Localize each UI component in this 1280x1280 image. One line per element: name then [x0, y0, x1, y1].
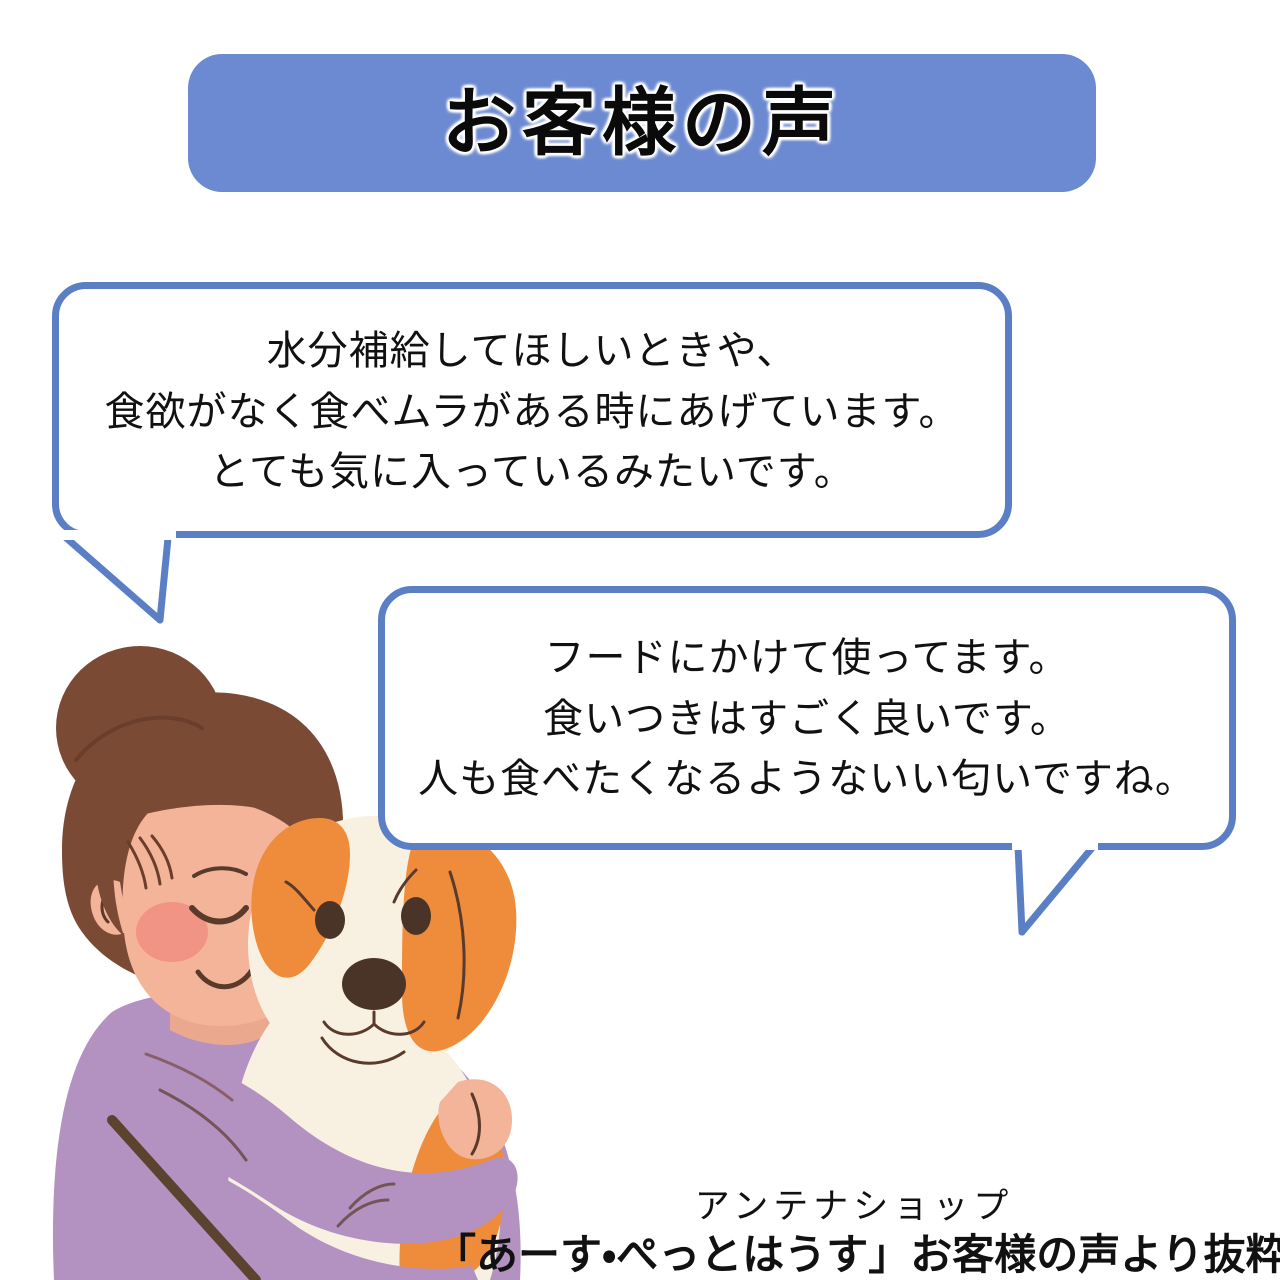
testimonial-1-line-3: とても気に入っているみたいです。	[209, 442, 855, 503]
testimonial-2-line-3: 人も食べたくなるようないい匂いですね。	[418, 749, 1196, 810]
testimonial-2-line-1: フードにかけて使ってます。	[545, 628, 1070, 689]
dog-nose	[342, 958, 406, 1010]
header-banner: お客様の声	[188, 54, 1096, 192]
dog-eye-left	[315, 901, 345, 939]
testimonial-poster: お客様の声 水分補給してほしいときや、 食欲がなく食べムラがある時にあげています…	[0, 0, 1280, 1280]
footer-credit: アンテナショップ 「あーす・ぺっとはうす」お客様の声より抜粋	[434, 1185, 1274, 1280]
testimonial-bubble-1: 水分補給してほしいときや、 食欲がなく食べムラがある時にあげています。 とても気…	[52, 282, 1012, 538]
page-title: お客様の声	[442, 86, 842, 160]
footer-shop-type: アンテナショップ	[434, 1185, 1274, 1230]
testimonial-1-line-2: 食欲がなく食べムラがある時にあげています。	[105, 382, 960, 443]
testimonial-bubble-2: フードにかけて使ってます。 食いつきはすごく良いです。 人も食べたくなるようない…	[378, 586, 1236, 850]
testimonial-1-line-1: 水分補給してほしいときや、	[267, 321, 798, 382]
testimonial-2-line-2: 食いつきはすごく良いです。	[543, 689, 1071, 750]
dog-eye-right	[401, 897, 431, 935]
footer-shop-name: 「あーす・ぺっとはうす」お客様の声より抜粋	[434, 1230, 1274, 1280]
